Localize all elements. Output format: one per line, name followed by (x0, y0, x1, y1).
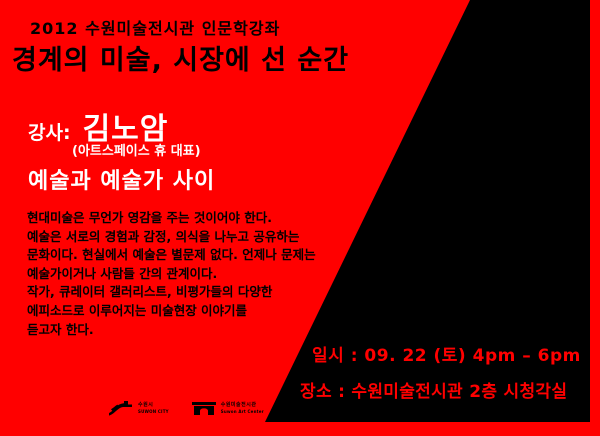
lecturer-label: 강사: (28, 118, 71, 145)
logo-name-en: SUWON CITY (138, 410, 169, 414)
description-line: 작가, 큐레이터 갤러리스트, 비평가들의 다양한 (27, 283, 357, 302)
description-line: 예술은 서로의 경험과 감정, 의식을 나누고 공유하는 (27, 228, 357, 247)
lecture-topic: 예술과 예술가 사이 (28, 163, 215, 195)
description-line: 문화이다. 현실에서 예술은 별문제 없다. 언제나 문제는 (27, 246, 357, 265)
logo-name-ko: 수원시 (138, 403, 169, 408)
suwon-art-center-logo-text: 수원미술전시관 Suwon Art Center (221, 403, 264, 414)
description-line: 현대미술은 무언가 영감을 주는 것이어야 한다. (27, 209, 357, 228)
event-date-time: 일시 : 09. 22 (토) 4pm – 6pm (312, 341, 581, 366)
description-line: 에피소드로 이루어지는 미술현장 이야기를 (27, 302, 357, 321)
description-line: 예술가이거나 사람들 간의 관계이다. (27, 265, 357, 284)
suwon-art-center-logo-icon (191, 400, 217, 417)
suwon-city-logo-icon (108, 400, 134, 417)
event-venue: 장소 : 수원미술전시관 2층 시청각실 (300, 377, 567, 402)
description-line: 듣고자 한다. (27, 321, 357, 340)
poster-canvas: 2012 수원미술전시관 인문학강좌 경계의 미술, 시장에 선 순간 강사: … (0, 0, 600, 436)
logo-name-en: Suwon Art Center (221, 410, 264, 414)
suwon-city-logo-text: 수원시 SUWON CITY (138, 403, 169, 414)
logo-suwon-art-center: 수원미술전시관 Suwon Art Center (191, 400, 264, 417)
poster-kicker: 2012 수원미술전시관 인문학강좌 (30, 15, 280, 39)
lecture-description: 현대미술은 무언가 영감을 주는 것이어야 한다. 예술은 서로의 경험과 감정… (27, 209, 357, 339)
lecturer-affiliation: (아트스페이스 휴 대표) (72, 140, 201, 159)
logo-suwon-city: 수원시 SUWON CITY (108, 400, 169, 417)
sponsor-logos: 수원시 SUWON CITY 수원미술전시관 Suwon Art Center (108, 400, 264, 417)
poster-headline: 경계의 미술, 시장에 선 순간 (12, 38, 349, 77)
logo-name-ko: 수원미술전시관 (221, 403, 264, 408)
